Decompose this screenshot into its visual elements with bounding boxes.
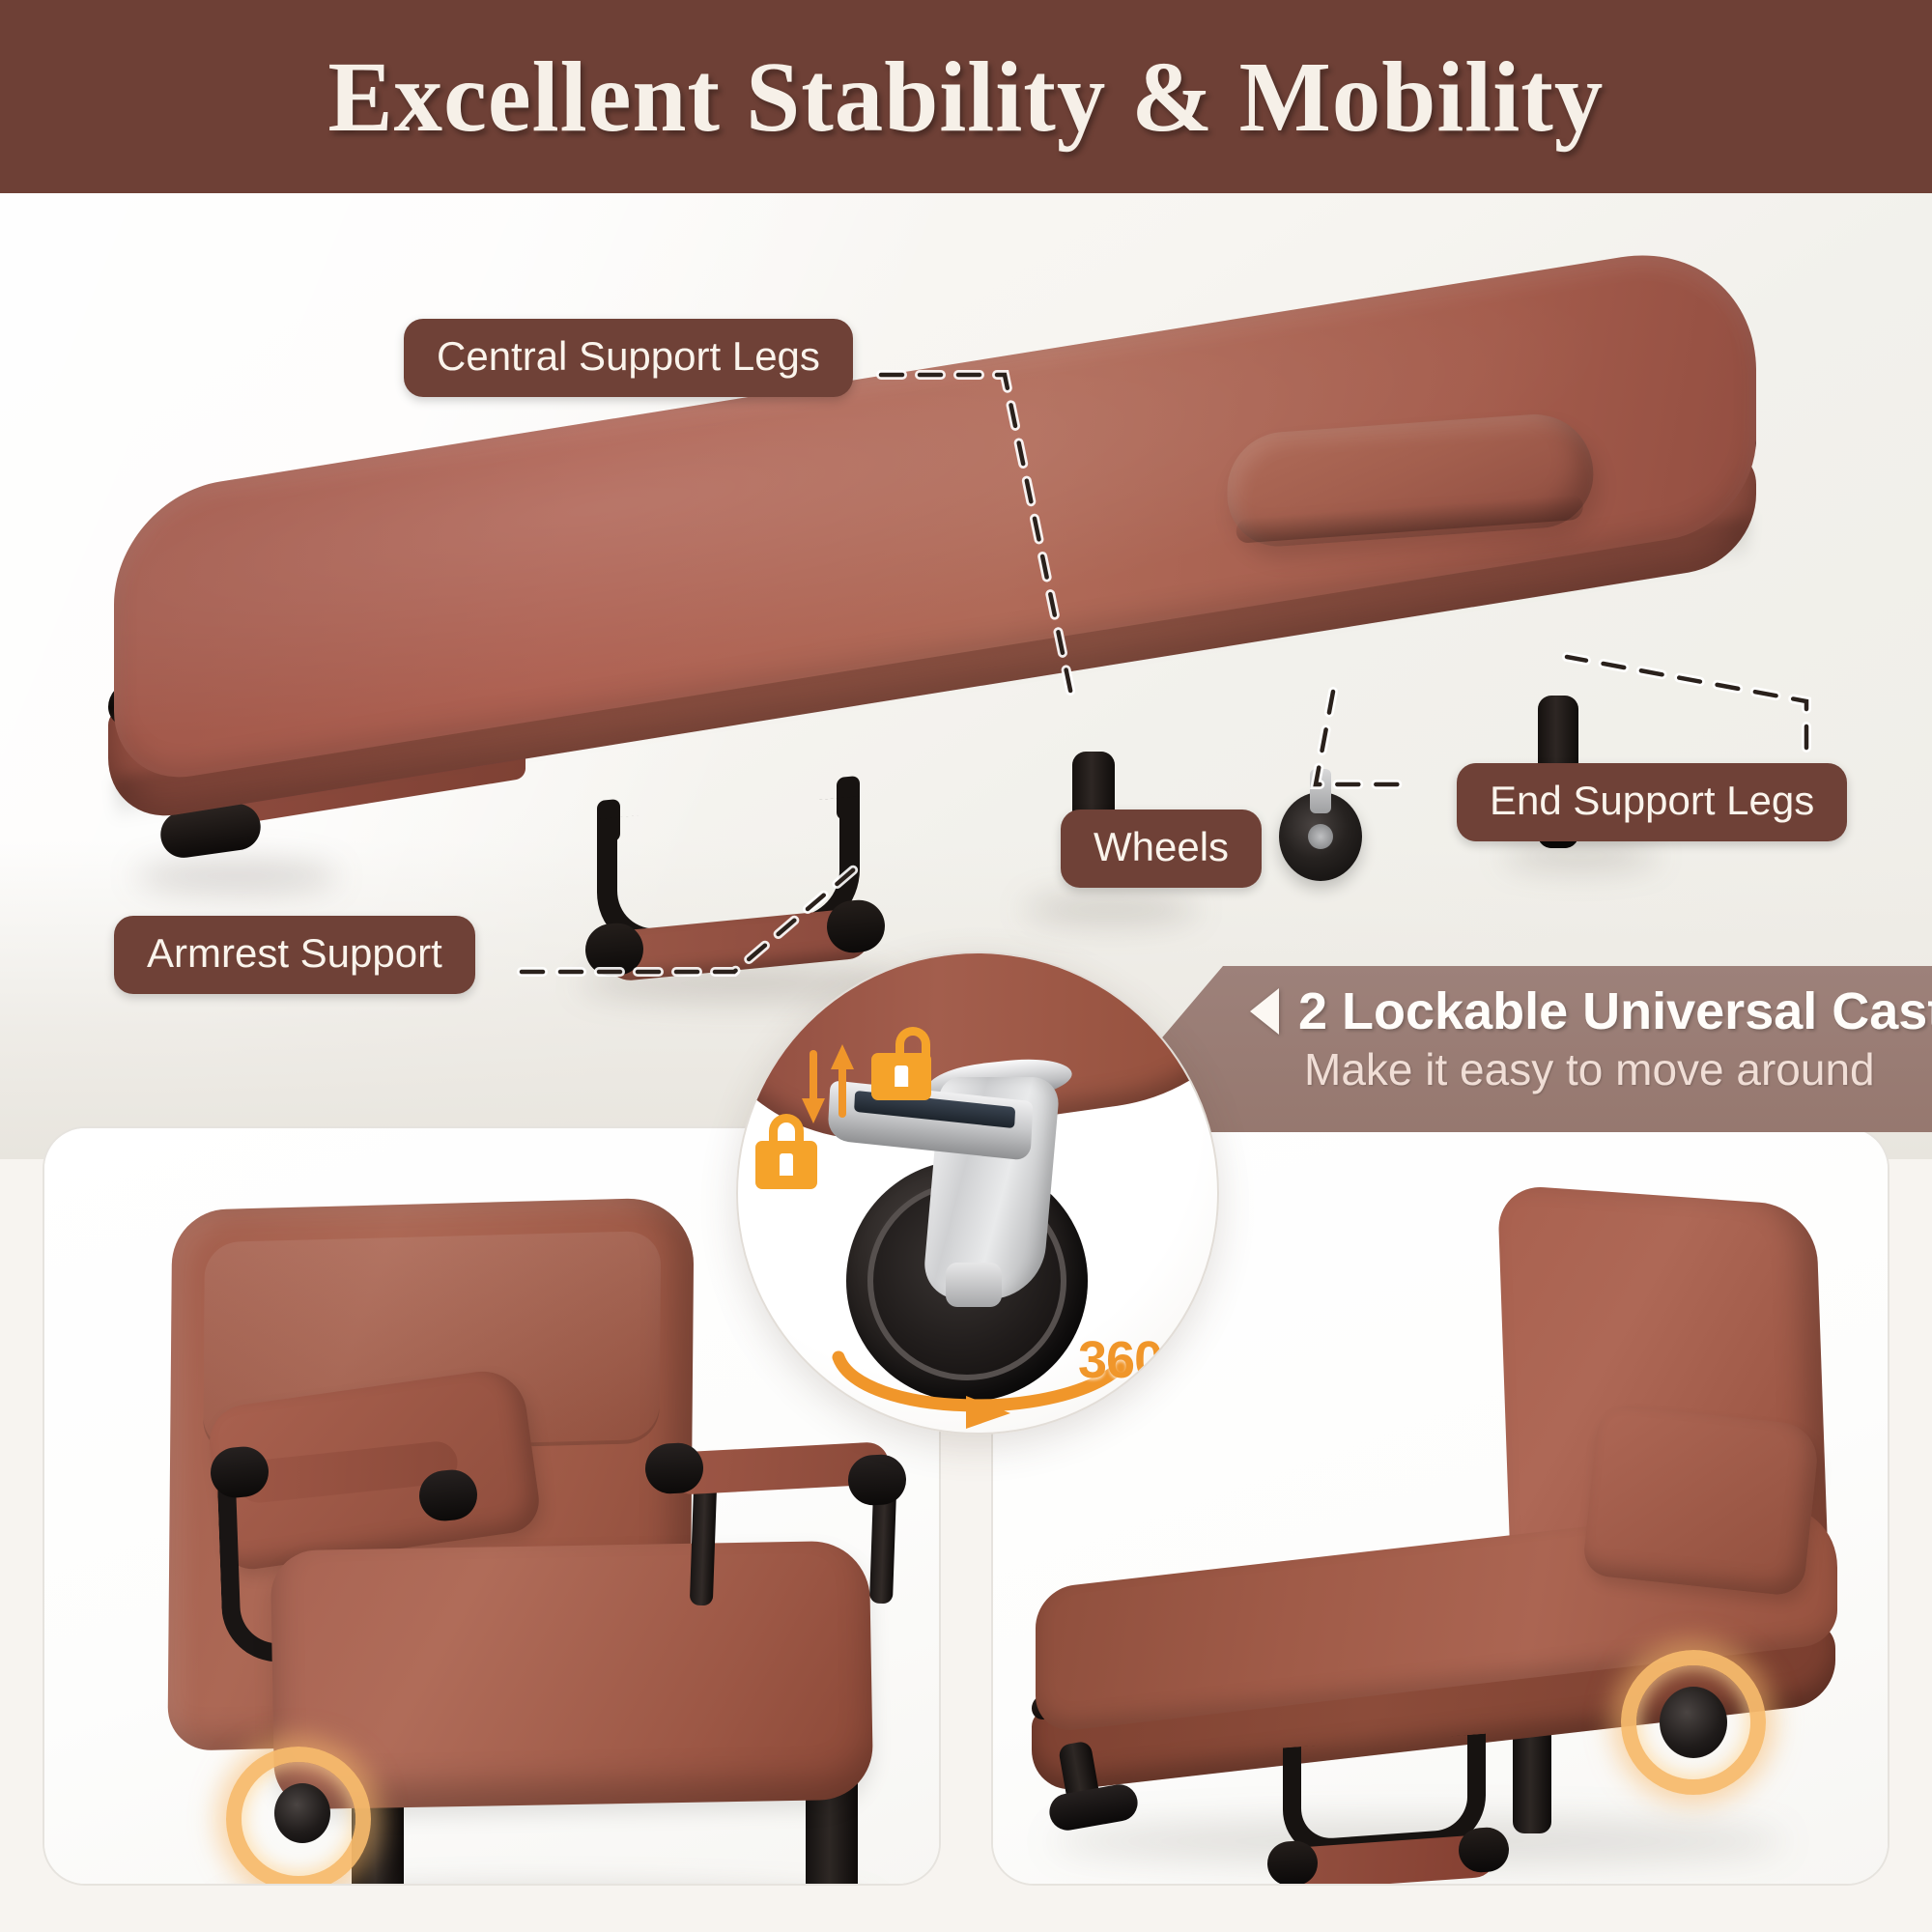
contact-shadow — [1503, 842, 1658, 869]
lock-open-icon — [871, 1027, 931, 1100]
lock-closed-icon — [755, 1114, 817, 1189]
infographic-page: Excellent Stability & Mobility — [0, 0, 1932, 1932]
callout-central-support-legs[interactable]: Central Support Legs — [404, 319, 853, 397]
caster-feature-banner: 2 Lockable Universal Casters Make it eas… — [1150, 966, 1932, 1132]
caster-detail-inset: 360° — [736, 952, 1219, 1435]
page-header: Excellent Stability & Mobility — [0, 0, 1932, 193]
caster-highlight-ring — [226, 1747, 371, 1886]
contact-shadow — [1024, 895, 1198, 923]
caster-banner-title: 2 Lockable Universal Casters — [1298, 985, 1932, 1037]
caster-banner-subtitle: Make it easy to move around — [1304, 1047, 1932, 1092]
caster-highlight-ring — [1621, 1650, 1766, 1795]
contact-shadow — [135, 860, 338, 893]
callout-end-support-legs[interactable]: End Support Legs — [1457, 763, 1847, 841]
caster-axle-hub — [946, 1263, 1002, 1307]
armrest-post-right — [690, 1482, 717, 1606]
caster-wheel — [1279, 792, 1362, 881]
rotation-degree-label: 360° — [1078, 1330, 1182, 1390]
armrest-post-right — [869, 1490, 896, 1605]
left-triangle-icon — [1250, 988, 1279, 1035]
callout-armrest-support[interactable]: Armrest Support — [114, 916, 475, 994]
chaise-lumbar-pillow — [1581, 1403, 1820, 1597]
callout-wheels[interactable]: Wheels — [1061, 810, 1262, 888]
page-title: Excellent Stability & Mobility — [328, 40, 1605, 155]
chair-seat-cushion — [270, 1541, 874, 1810]
